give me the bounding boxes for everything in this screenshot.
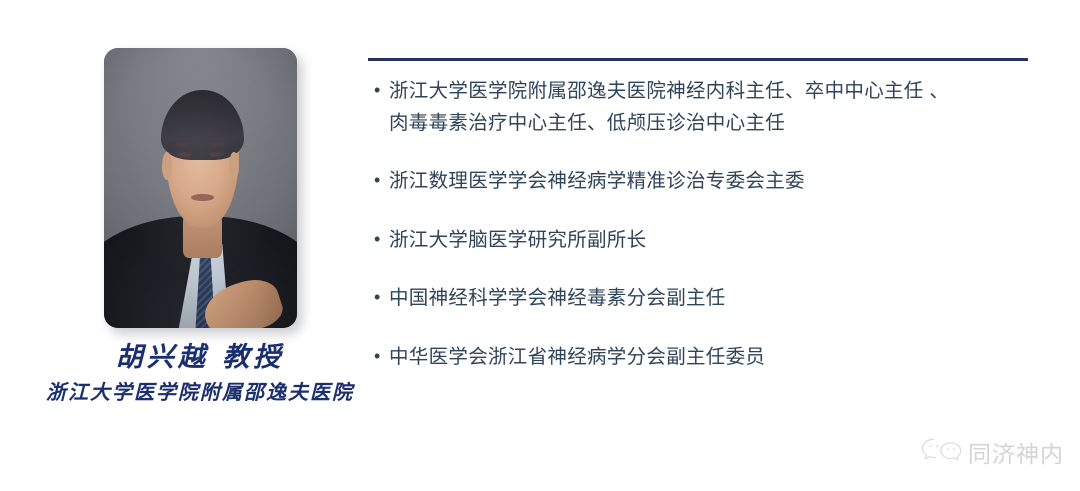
bullet-dot-icon: • bbox=[374, 342, 389, 371]
list-item-text: 中国神经科学学会神经毒素分会副主任 bbox=[389, 283, 1024, 315]
list-item: • 中国神经科学学会神经毒素分会副主任 bbox=[374, 283, 1024, 315]
list-item: • 浙江大学脑医学研究所副所长 bbox=[374, 225, 1024, 257]
list-item: • 中华医学会浙江省神经病学分会副主任委员 bbox=[374, 342, 1024, 374]
list-item-text: 浙江大学脑医学研究所副所长 bbox=[389, 225, 1024, 257]
bullet-dot-icon: • bbox=[374, 166, 389, 195]
speaker-name: 胡兴越 教授 bbox=[0, 342, 400, 374]
wechat-icon bbox=[919, 437, 961, 467]
credentials-column: • 浙江大学医学院附属邵逸夫医院神经内科主任、卒中中心主任 、 肉毒毒素治疗中心… bbox=[368, 0, 1030, 491]
speaker-photo bbox=[104, 48, 297, 328]
watermark-text: 同济神内 bbox=[968, 435, 1064, 469]
speaker-caption: 胡兴越 教授 浙江大学医学院附属邵逸夫医院 bbox=[0, 342, 400, 404]
list-item: • 浙江大学医学院附属邵逸夫医院神经内科主任、卒中中心主任 、 肉毒毒素治疗中心… bbox=[374, 76, 1024, 139]
speaker-profile-slide: 胡兴越 教授 浙江大学医学院附属邵逸夫医院 • 浙江大学医学院附属邵逸夫医院神经… bbox=[0, 0, 1080, 491]
list-item-text: 浙江大学医学院附属邵逸夫医院神经内科主任、卒中中心主任 、 肉毒毒素治疗中心主任… bbox=[389, 76, 1024, 139]
watermark: 同济神内 bbox=[919, 435, 1064, 469]
list-item-text: 中华医学会浙江省神经病学分会副主任委员 bbox=[389, 342, 1024, 374]
header-divider-rule bbox=[368, 58, 1028, 61]
bullet-dot-icon: • bbox=[374, 225, 389, 254]
portrait-block: 胡兴越 教授 浙江大学医学院附属邵逸夫医院 bbox=[0, 0, 360, 430]
bullet-dot-icon: • bbox=[374, 76, 389, 105]
photo-vignette bbox=[104, 48, 297, 328]
bullet-dot-icon: • bbox=[374, 283, 389, 312]
list-item-text: 浙江数理医学学会神经病学精准诊治专委会主委 bbox=[389, 166, 1024, 198]
credentials-list: • 浙江大学医学院附属邵逸夫医院神经内科主任、卒中中心主任 、 肉毒毒素治疗中心… bbox=[374, 76, 1024, 373]
list-item: • 浙江数理医学学会神经病学精准诊治专委会主委 bbox=[374, 166, 1024, 198]
speaker-affiliation: 浙江大学医学院附属邵逸夫医院 bbox=[0, 380, 400, 404]
